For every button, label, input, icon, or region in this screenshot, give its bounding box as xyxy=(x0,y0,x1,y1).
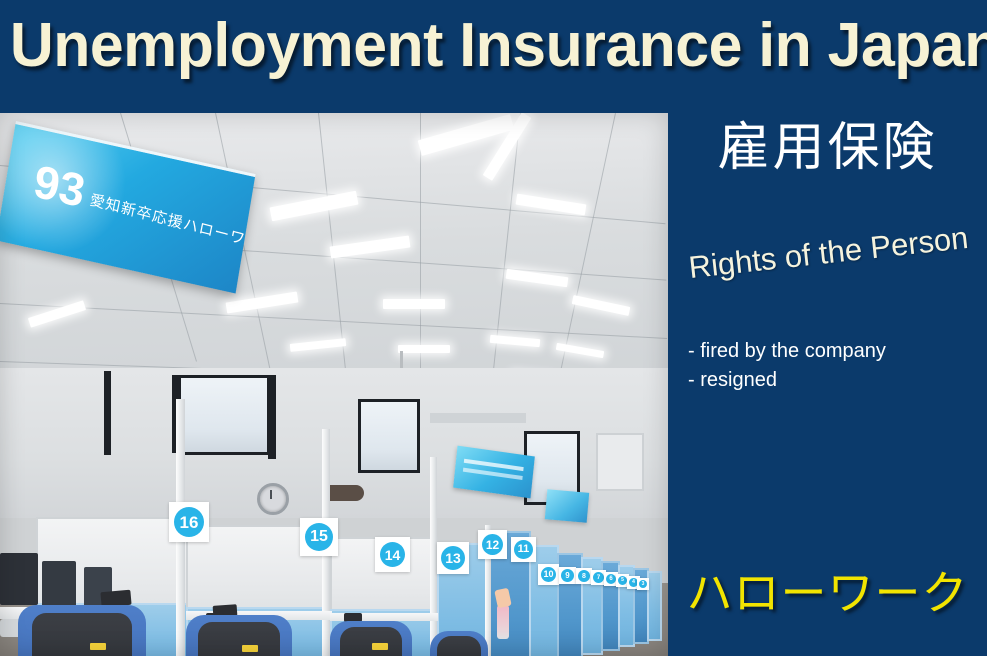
booth-number-circle: 15 xyxy=(305,523,333,551)
booth-number-sign: 16 xyxy=(169,502,209,542)
rights-bullet-list: - fired by the company - resigned xyxy=(688,337,978,395)
booth-number-circle: 16 xyxy=(174,507,204,537)
poster-root: Unemployment Insurance in Japan xyxy=(0,0,987,656)
booth-number-sign: 14 xyxy=(375,537,410,572)
background-monitor xyxy=(42,561,76,607)
booth-number-sign: 9 xyxy=(559,567,576,584)
booth-partition xyxy=(647,571,662,641)
wall-panel xyxy=(596,433,644,491)
wall-trim xyxy=(430,413,526,423)
booth-number-circle: 8 xyxy=(578,570,590,582)
booth-number-circle: 10 xyxy=(541,567,556,582)
subheading-rights-of-the-person: Rights of the Person xyxy=(675,219,982,288)
banner-number: 93 xyxy=(31,158,89,214)
bullet-item: - fired by the company xyxy=(688,337,978,366)
ceiling-light xyxy=(383,299,445,309)
window xyxy=(358,399,420,473)
background-monitor xyxy=(0,553,38,605)
window xyxy=(178,375,270,455)
distant-banner-2 xyxy=(545,489,589,523)
booth-number-sign: 3 xyxy=(637,578,649,590)
booth-number-circle: 12 xyxy=(482,534,503,555)
booth-number-circle: 7 xyxy=(593,572,604,583)
booth-number-circle: 6 xyxy=(606,574,616,584)
booth-number-sign: 12 xyxy=(478,530,507,559)
booth-number-sign: 11 xyxy=(511,537,536,562)
door-frame xyxy=(104,371,111,455)
sanitizer-bottle xyxy=(497,605,509,639)
booth-number-circle: 3 xyxy=(639,580,647,588)
booth-number-sign: 15 xyxy=(300,518,338,556)
booth-number-sign: 8 xyxy=(576,568,592,584)
booth-number-circle: 11 xyxy=(514,540,533,559)
ceiling-grid-line xyxy=(420,113,421,403)
hello-work-label: ハローワーク xyxy=(668,570,987,616)
office-photo: 93 愛知新卒応援ハローワーク xyxy=(0,113,668,656)
page-title: Unemployment Insurance in Japan xyxy=(10,10,977,81)
booth-post xyxy=(430,457,437,656)
door-frame xyxy=(268,375,276,459)
ceiling-light xyxy=(398,345,450,353)
booth-number-sign: 13 xyxy=(437,542,469,574)
japanese-heading: 雇用保険 xyxy=(668,120,987,177)
bullet-item: - resigned xyxy=(688,366,978,395)
booth-number-circle: 14 xyxy=(380,542,405,567)
booth-number-circle: 5 xyxy=(618,576,627,585)
booth-number-circle: 13 xyxy=(441,546,465,570)
booth-number-sign: 10 xyxy=(538,564,559,585)
wall-clock xyxy=(257,483,289,515)
booth-number-circle: 9 xyxy=(561,569,574,582)
